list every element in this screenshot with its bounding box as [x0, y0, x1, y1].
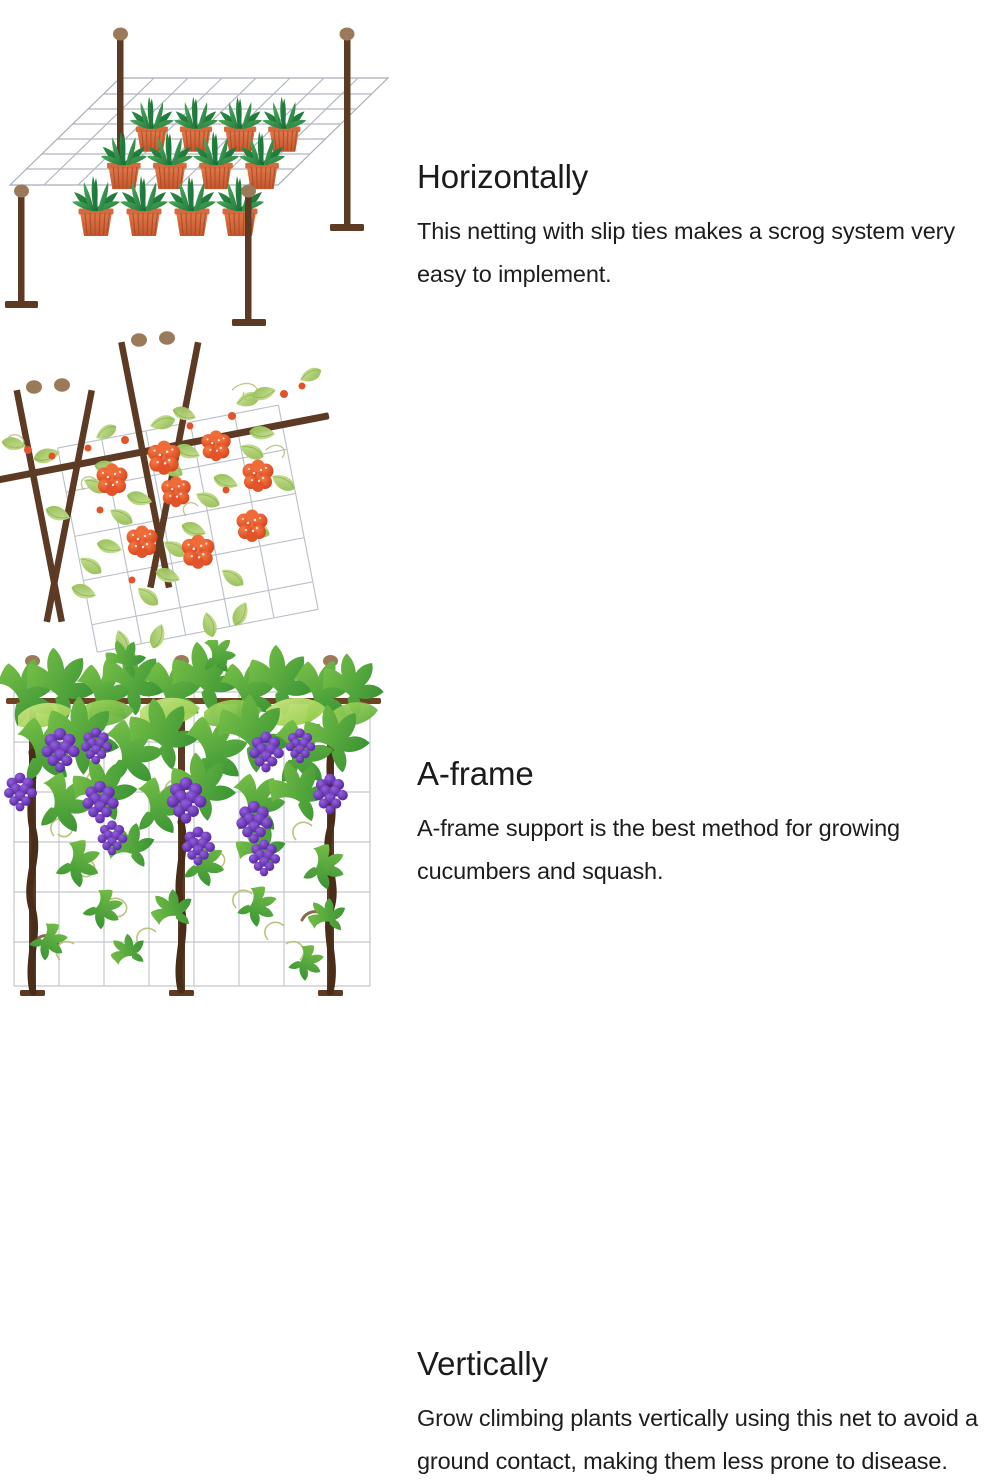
text-block-horizontally: Horizontally This netting with slip ties… [417, 158, 1002, 296]
illustration-a-frame [0, 330, 400, 660]
body-horizontally: This netting with slip ties makes a scro… [417, 210, 1002, 296]
infographic-page: Horizontally This netting with slip ties… [0, 0, 1002, 1002]
text-block-vertically: Vertically Grow climbing plants vertical… [417, 1345, 1002, 1483]
body-vertically: Grow climbing plants vertically using th… [417, 1397, 1002, 1483]
section-vertically: Vertically Grow climbing plants vertical… [0, 640, 1002, 1002]
heading-vertically: Vertically [417, 1345, 1002, 1383]
illustration-horizontal-scrog [0, 0, 400, 340]
illustration-vertical-trellis [0, 640, 400, 1002]
section-horizontally: Horizontally This netting with slip ties… [0, 0, 1002, 340]
section-a-frame: A-frame A-frame support is the best meth… [0, 330, 1002, 660]
heading-horizontally: Horizontally [417, 158, 1002, 196]
post-front-left [5, 185, 38, 309]
